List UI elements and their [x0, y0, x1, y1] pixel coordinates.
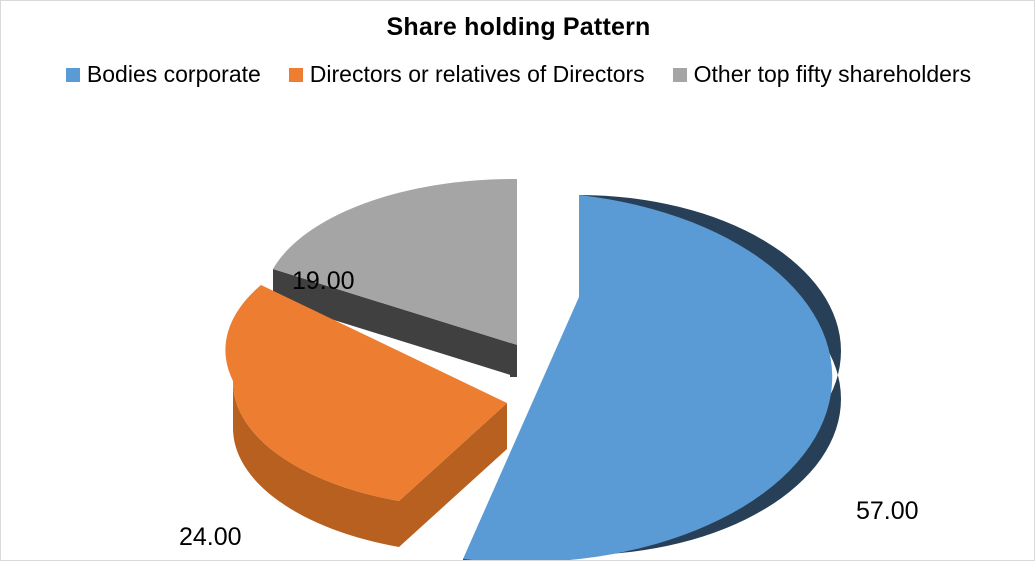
legend-item-directors[interactable]: Directors or relatives of Directors [289, 63, 645, 86]
legend-swatch-blue-icon [66, 68, 80, 82]
legend-swatch-gray-icon [673, 68, 687, 82]
data-label-other-top-fifty: 19.00 [292, 267, 355, 296]
legend-label-other-top-fifty: Other top fifty shareholders [694, 63, 971, 86]
pie-plot-area: 57.00 24.00 19.00 [1, 101, 1035, 561]
legend-item-bodies-corporate[interactable]: Bodies corporate [66, 63, 261, 86]
legend-label-bodies-corporate: Bodies corporate [87, 63, 261, 86]
chart-legend: Bodies corporate Directors or relatives … [1, 63, 1035, 86]
pie-slice-bodies-corporate[interactable] [463, 195, 841, 561]
chart-container: Share holding Pattern Bodies corporate D… [0, 0, 1035, 561]
legend-swatch-orange-icon [289, 68, 303, 82]
pie-chart-svg [1, 101, 1035, 561]
chart-title: Share holding Pattern [1, 13, 1035, 42]
legend-item-other-top-fifty[interactable]: Other top fifty shareholders [673, 63, 971, 86]
legend-label-directors: Directors or relatives of Directors [310, 63, 645, 86]
data-label-bodies-corporate: 57.00 [856, 497, 919, 526]
data-label-directors: 24.00 [179, 523, 242, 552]
